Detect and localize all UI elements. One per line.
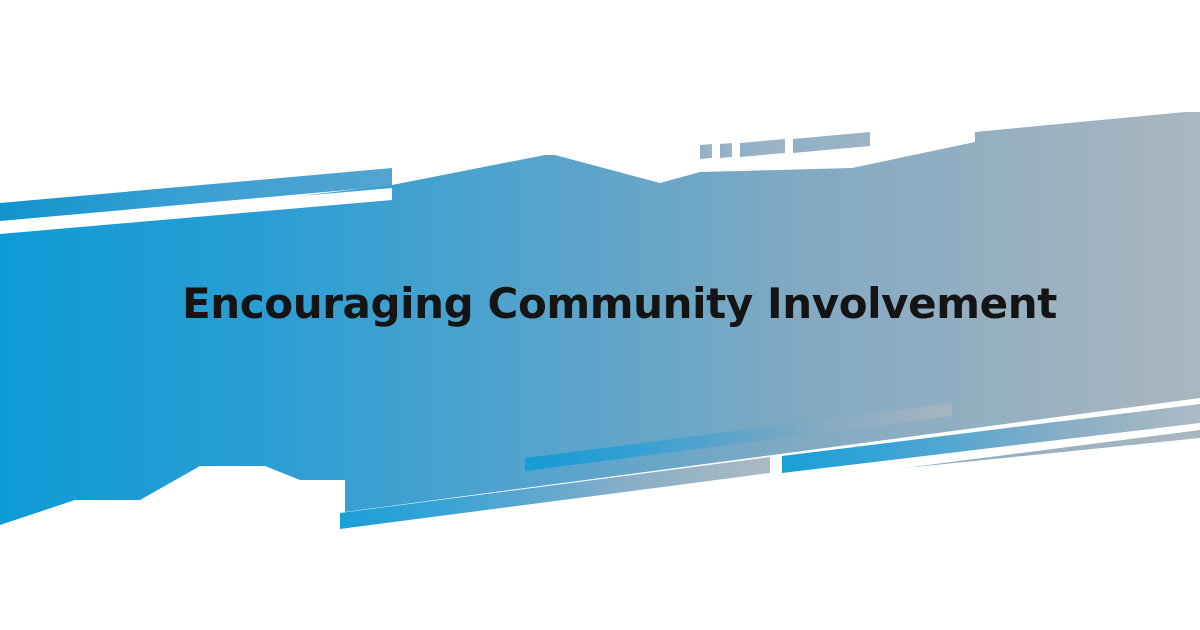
- banner-background-graphic: [0, 0, 1200, 630]
- main-band: [0, 112, 1200, 600]
- banner-canvas: Encouraging Community Involvement: [0, 0, 1200, 630]
- top-right-dash-1: [700, 144, 712, 159]
- top-right-dash-3: [740, 139, 785, 157]
- top-right-dash-2: [720, 143, 732, 158]
